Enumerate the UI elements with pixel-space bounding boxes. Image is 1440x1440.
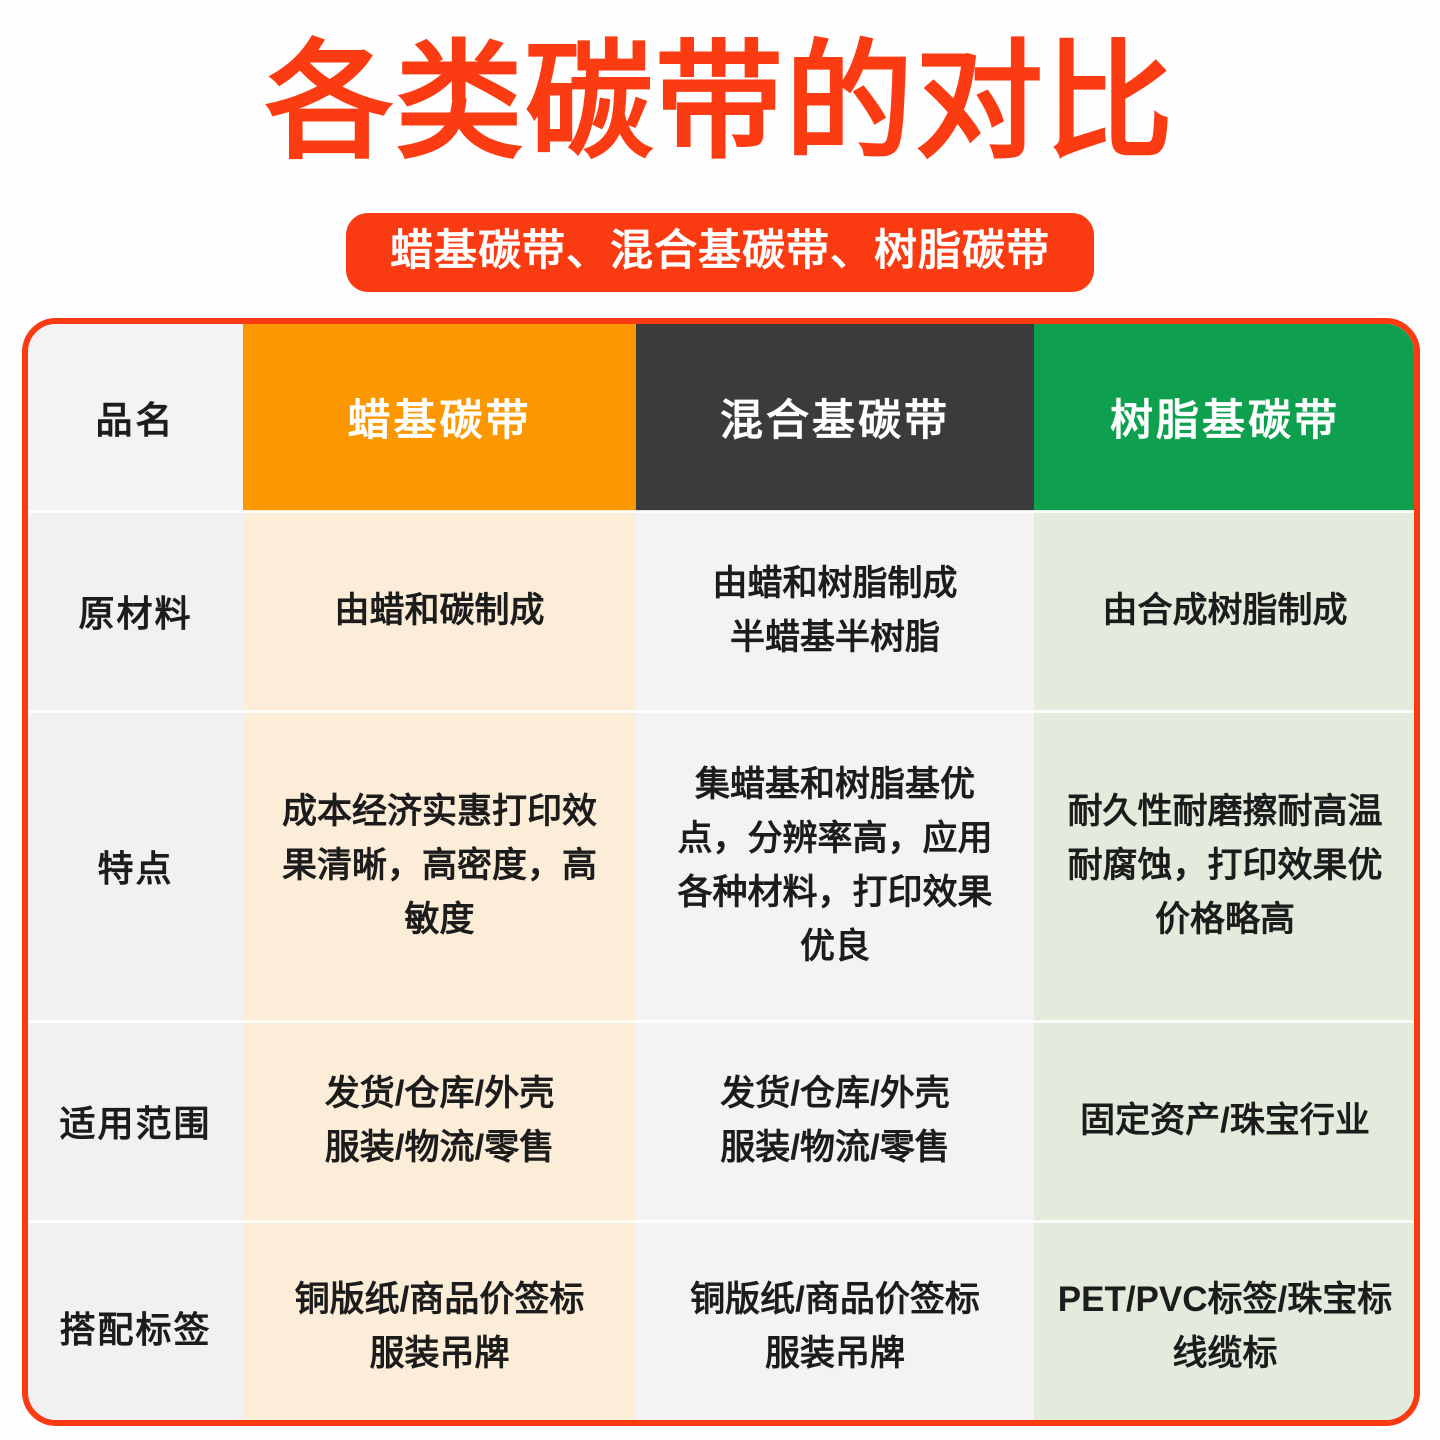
cell-material-mix: 由蜡和树脂制成半蜡基半树脂 <box>636 511 1034 711</box>
table-row: 适用范围 发货/仓库/外壳服装/物流/零售 发货/仓库/外壳服装/物流/零售 固… <box>28 1021 1416 1221</box>
cell-line: 成本经济实惠打印效 <box>253 785 626 839</box>
cell-line: 优良 <box>646 920 1024 974</box>
cell-feature-mix: 集蜡基和树脂基优点，分辨率高，应用各种材料，打印效果优良 <box>636 711 1034 1021</box>
table-row: 搭配标签 铜版纸/商品价签标服装吊牌 铜版纸/商品价签标服装吊牌 PET/PVC… <box>28 1221 1416 1426</box>
page-title: 各类碳带的对比 <box>0 38 1440 169</box>
column-header-mix: 混合基碳带 <box>636 324 1034 511</box>
subtitle-badge: 蜡基碳带、混合基碳带、树脂碳带 <box>346 213 1094 292</box>
cell-line: 发货/仓库/外壳 <box>253 1067 626 1121</box>
cell-line: 铜版纸/商品价签标 <box>253 1273 626 1327</box>
cell-line: 半蜡基半树脂 <box>646 611 1024 665</box>
row-label-scope: 适用范围 <box>28 1021 243 1221</box>
cell-line: 价格略高 <box>1044 893 1406 947</box>
cell-matching-resin: PET/PVC标签/珠宝标线缆标 <box>1034 1221 1416 1426</box>
cell-line: 耐腐蚀，打印效果优 <box>1044 839 1406 893</box>
cell-scope-resin: 固定资产/珠宝行业 <box>1034 1021 1416 1221</box>
cell-line: 集蜡基和树脂基优 <box>646 758 1024 812</box>
cell-line: 由蜡和碳制成 <box>253 584 626 638</box>
cell-material-wax: 由蜡和碳制成 <box>243 511 636 711</box>
cell-scope-mix: 发货/仓库/外壳服装/物流/零售 <box>636 1021 1034 1221</box>
cell-matching-mix: 铜版纸/商品价签标服装吊牌 <box>636 1221 1034 1426</box>
cell-line: 服装/物流/零售 <box>646 1121 1024 1175</box>
row-label-feature: 特点 <box>28 711 243 1021</box>
cell-line: 由合成树脂制成 <box>1044 584 1406 638</box>
cell-line: 服装/物流/零售 <box>253 1121 626 1175</box>
cell-line: 点，分辨率高，应用 <box>646 812 1024 866</box>
table-header-row: 品名 蜡基碳带 混合基碳带 树脂基碳带 <box>28 324 1416 511</box>
cell-line: 线缆标 <box>1044 1327 1406 1381</box>
comparison-table: 品名 蜡基碳带 混合基碳带 树脂基碳带 原材料 由蜡和碳制成 由蜡和树脂制成半蜡… <box>28 324 1416 1426</box>
cell-material-resin: 由合成树脂制成 <box>1034 511 1416 711</box>
cell-feature-resin: 耐久性耐磨擦耐高温耐腐蚀，打印效果优价格略高 <box>1034 711 1416 1021</box>
cell-line: 果清晰，高密度，高 <box>253 839 626 893</box>
cell-line: 服装吊牌 <box>253 1327 626 1381</box>
table-row: 原材料 由蜡和碳制成 由蜡和树脂制成半蜡基半树脂 由合成树脂制成 <box>28 511 1416 711</box>
cell-line: 固定资产/珠宝行业 <box>1044 1094 1406 1148</box>
cell-line: 铜版纸/商品价签标 <box>646 1273 1024 1327</box>
column-header-wax: 蜡基碳带 <box>243 324 636 511</box>
column-header-resin: 树脂基碳带 <box>1034 324 1416 511</box>
cell-feature-wax: 成本经济实惠打印效果清晰，高密度，高敏度 <box>243 711 636 1021</box>
cell-line: 各种材料，打印效果 <box>646 866 1024 920</box>
cell-matching-wax: 铜版纸/商品价签标服装吊牌 <box>243 1221 636 1426</box>
cell-scope-wax: 发货/仓库/外壳服装/物流/零售 <box>243 1021 636 1221</box>
cell-line: 敏度 <box>253 893 626 947</box>
row-label-material: 原材料 <box>28 511 243 711</box>
cell-line: 发货/仓库/外壳 <box>646 1067 1024 1121</box>
cell-line: 服装吊牌 <box>646 1327 1024 1381</box>
comparison-table-frame: 品名 蜡基碳带 混合基碳带 树脂基碳带 原材料 由蜡和碳制成 由蜡和树脂制成半蜡… <box>22 318 1420 1426</box>
row-label-matching: 搭配标签 <box>28 1221 243 1426</box>
subtitle-container: 蜡基碳带、混合基碳带、树脂碳带 <box>0 213 1440 292</box>
cell-line: PET/PVC标签/珠宝标 <box>1044 1273 1406 1327</box>
table-row: 特点 成本经济实惠打印效果清晰，高密度，高敏度 集蜡基和树脂基优点，分辨率高，应… <box>28 711 1416 1021</box>
cell-line: 由蜡和树脂制成 <box>646 557 1024 611</box>
page-root: 各类碳带的对比 蜡基碳带、混合基碳带、树脂碳带 品名 蜡基碳带 混合基碳带 树脂… <box>0 0 1440 1440</box>
column-header-name: 品名 <box>28 324 243 511</box>
cell-line: 耐久性耐磨擦耐高温 <box>1044 785 1406 839</box>
